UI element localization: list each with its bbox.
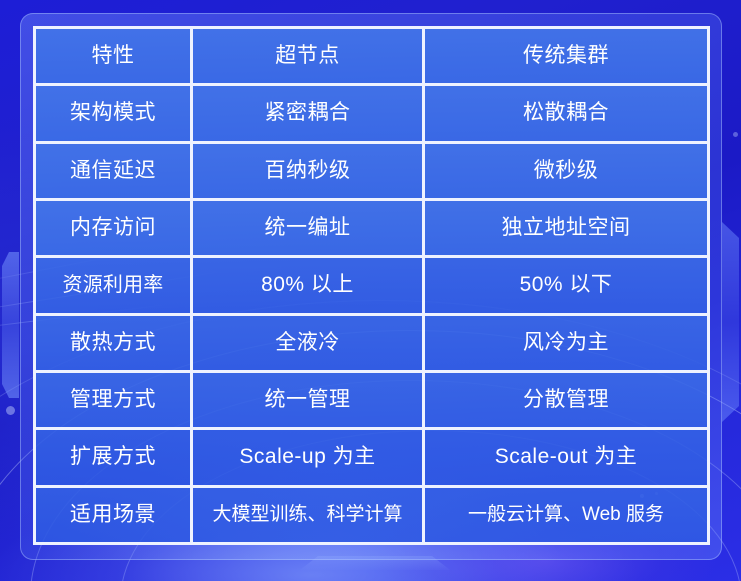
table-header-cell-super-node: 超节点 <box>190 29 422 83</box>
table-cell-feature: 管理方式 <box>36 373 190 427</box>
table-cell-super-node: 统一管理 <box>190 373 422 427</box>
table-cell-super-node: 紧密耦合 <box>190 86 422 140</box>
table-row: 通信延迟 百纳秒级 微秒级 <box>36 141 707 198</box>
slide-canvas: 特性 超节点 传统集群 架构模式 紧密耦合 松散耦合 通信延迟 百纳秒级 微秒级… <box>0 0 741 581</box>
decorative-bracket-left <box>2 252 19 398</box>
table-cell-super-node: 百纳秒级 <box>190 144 422 198</box>
comparison-table: 特性 超节点 传统集群 架构模式 紧密耦合 松散耦合 通信延迟 百纳秒级 微秒级… <box>33 26 710 545</box>
table-cell-legacy-cluster: 松散耦合 <box>422 86 707 140</box>
table-cell-feature: 扩展方式 <box>36 430 190 484</box>
table-header-cell-feature: 特性 <box>36 29 190 83</box>
table-cell-legacy-cluster: 一般云计算、Web 服务 <box>422 488 707 542</box>
table-header-row: 特性 超节点 传统集群 <box>36 29 707 83</box>
table-cell-legacy-cluster: 微秒级 <box>422 144 707 198</box>
table-cell-super-node: 全液冷 <box>190 316 422 370</box>
table-cell-super-node: 80% 以上 <box>190 258 422 312</box>
table-cell-super-node: Scale-up 为主 <box>190 430 422 484</box>
table-row: 资源利用率 80% 以上 50% 以下 <box>36 255 707 312</box>
table-cell-legacy-cluster: 风冷为主 <box>422 316 707 370</box>
table-cell-super-node: 统一编址 <box>190 201 422 255</box>
table-row: 内存访问 统一编址 独立地址空间 <box>36 198 707 255</box>
table-cell-feature: 内存访问 <box>36 201 190 255</box>
table-cell-feature: 适用场景 <box>36 488 190 542</box>
table-cell-legacy-cluster: 50% 以下 <box>422 258 707 312</box>
table-row: 适用场景 大模型训练、科学计算 一般云计算、Web 服务 <box>36 485 707 542</box>
table-cell-feature: 架构模式 <box>36 86 190 140</box>
table-cell-feature: 通信延迟 <box>36 144 190 198</box>
table-row: 散热方式 全液冷 风冷为主 <box>36 313 707 370</box>
table-cell-legacy-cluster: 分散管理 <box>422 373 707 427</box>
table-row: 架构模式 紧密耦合 松散耦合 <box>36 83 707 140</box>
decorative-dot <box>733 132 738 137</box>
table-row: 扩展方式 Scale-up 为主 Scale-out 为主 <box>36 427 707 484</box>
table-cell-feature: 散热方式 <box>36 316 190 370</box>
table-cell-super-node: 大模型训练、科学计算 <box>190 488 422 542</box>
table-cell-legacy-cluster: 独立地址空间 <box>422 201 707 255</box>
decorative-dot <box>6 406 15 415</box>
table-cell-legacy-cluster: Scale-out 为主 <box>422 430 707 484</box>
table-cell-feature: 资源利用率 <box>36 258 190 312</box>
decorative-bracket-right <box>722 222 739 422</box>
table-row: 管理方式 统一管理 分散管理 <box>36 370 707 427</box>
table-header-cell-legacy-cluster: 传统集群 <box>422 29 707 83</box>
